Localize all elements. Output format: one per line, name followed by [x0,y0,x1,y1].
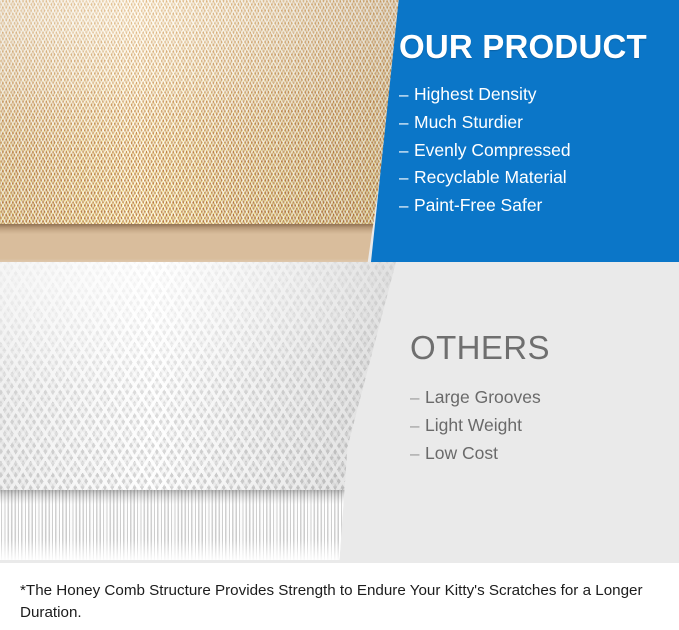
feature-label: Paint-Free Safer [414,192,542,220]
our-product-title: OUR PRODUCT [399,30,679,63]
our-product-cut-edge [0,224,406,268]
list-item: – Recyclable Material [399,164,679,192]
list-item: – Much Sturdier [399,109,679,137]
list-item: – Paint-Free Safer [399,192,679,220]
feature-label: Large Grooves [425,384,541,412]
our-product-honeycomb-texture [0,0,406,228]
others-product-feature-list: – Large Grooves – Light Weight – Low Cos… [410,384,672,467]
feature-label: Light Weight [425,412,522,440]
dash-icon: – [410,440,425,467]
feature-label: Much Sturdier [414,109,523,137]
dash-icon: – [410,384,425,411]
footer-area: *The Honey Comb Structure Provides Stren… [0,563,679,630]
others-product-title: OTHERS [410,331,672,364]
list-item: – Light Weight [410,412,672,440]
dash-icon: – [399,137,414,164]
our-product-image [0,0,406,268]
others-product-cut-edge [0,490,396,560]
feature-label: Evenly Compressed [414,137,571,165]
dash-icon: – [399,164,414,191]
others-product-corrugated-texture [0,262,396,494]
our-product-panel: OUR PRODUCT – Highest Density – Much Stu… [371,0,679,262]
feature-label: Low Cost [425,440,498,468]
others-product-image [0,262,396,560]
feature-label: Highest Density [414,81,537,109]
dash-icon: – [399,109,414,136]
comparison-area: OUR PRODUCT – Highest Density – Much Stu… [0,0,679,563]
product-comparison-graphic: OUR PRODUCT – Highest Density – Much Stu… [0,0,679,630]
list-item: – Highest Density [399,81,679,109]
feature-label: Recyclable Material [414,164,567,192]
dash-icon: – [399,81,414,108]
list-item: – Low Cost [410,440,672,468]
dash-icon: – [410,412,425,439]
footer-note: *The Honey Comb Structure Provides Stren… [20,580,649,623]
dash-icon: – [399,192,414,219]
others-product-panel: OTHERS – Large Grooves – Light Weight – … [410,331,672,467]
list-item: – Evenly Compressed [399,137,679,165]
list-item: – Large Grooves [410,384,672,412]
our-product-feature-list: – Highest Density – Much Sturdier – Even… [399,81,679,220]
